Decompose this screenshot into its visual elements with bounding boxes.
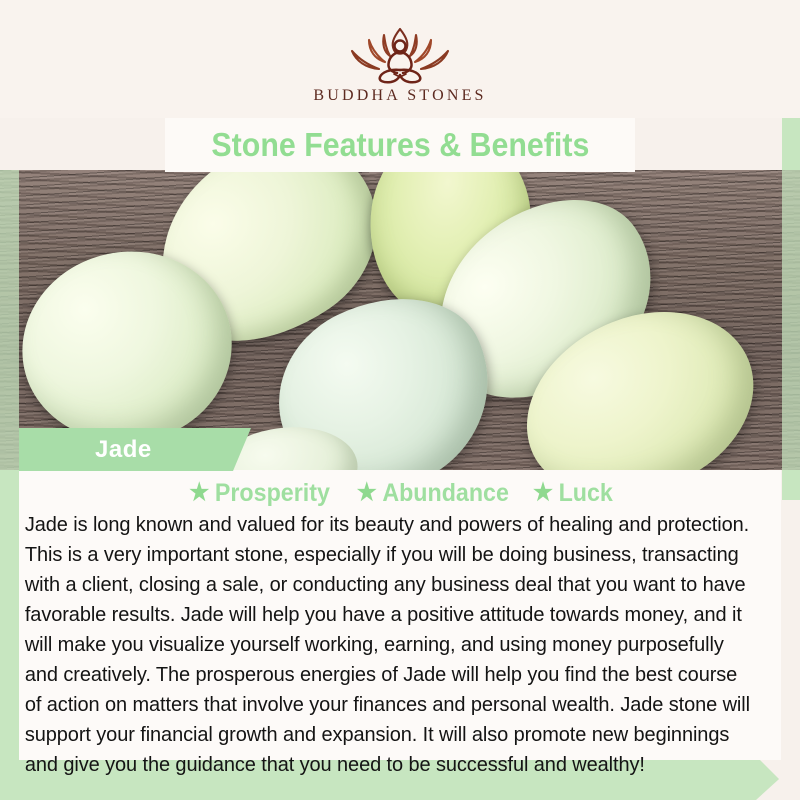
star-icon: ★ [357, 481, 377, 505]
lotus-meditation-icon [330, 22, 470, 84]
star-icon: ★ [533, 481, 553, 505]
page-title: Stone Features & Benefits [211, 126, 589, 164]
photo-right-green-overlay [782, 170, 800, 470]
brand-wordmark: BUDDHA STONES [313, 87, 486, 105]
benefit-luck: ★ Luck [533, 479, 613, 508]
benefit-prosperity: ★ Prosperity [189, 479, 330, 508]
benefit-label: Prosperity [215, 479, 330, 508]
poster-root: BUDDHA STONES Stone Features & Benefits … [0, 0, 800, 800]
stone-name-label: Jade [95, 436, 152, 464]
stone-name-badge: Jade [19, 428, 251, 471]
brand-header: BUDDHA STONES [0, 0, 800, 118]
photo-left-green-overlay [0, 170, 19, 470]
stone-description: Jade is long known and valued for its be… [19, 508, 762, 780]
benefits-row: ★ Prosperity ★ Abundance ★ Luck [19, 470, 781, 508]
stone-photo [0, 170, 800, 470]
benefit-abundance: ★ Abundance [357, 479, 509, 508]
content-panel: ★ Prosperity ★ Abundance ★ Luck Jade is … [19, 470, 781, 760]
title-banner: Stone Features & Benefits [165, 118, 635, 172]
star-icon: ★ [189, 481, 209, 505]
benefit-label: Luck [559, 479, 613, 508]
benefit-label: Abundance [382, 479, 509, 508]
